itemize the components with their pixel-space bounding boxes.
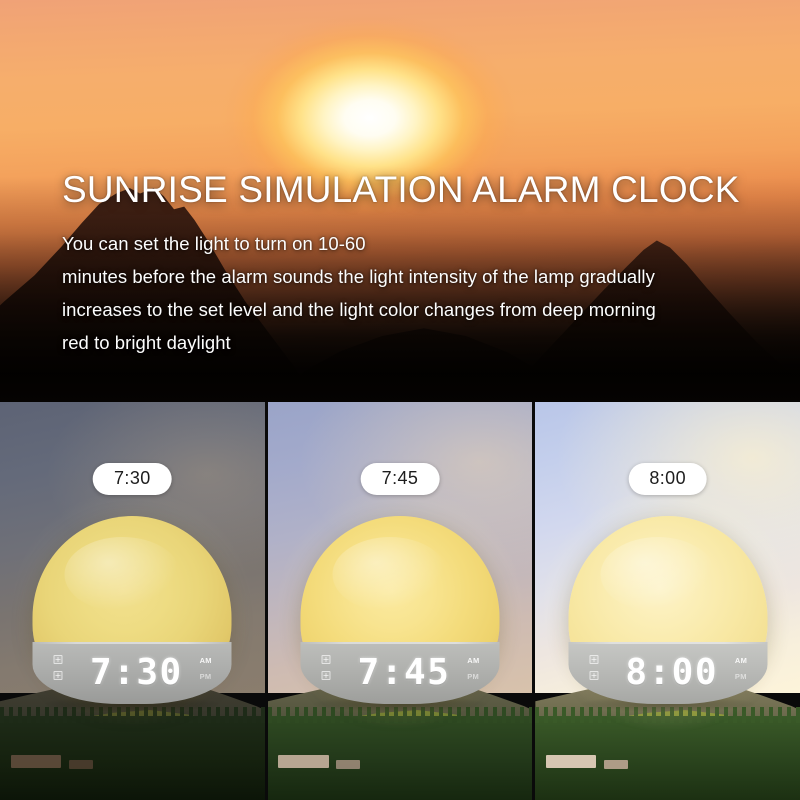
pm-label: PM <box>467 673 479 681</box>
hero-description-line: You can set the light to turn on 10-60 <box>62 228 762 261</box>
hero-description: You can set the light to turn on 10-60 m… <box>62 228 762 360</box>
clock-time: 7:30 <box>90 655 183 691</box>
lamp-highlight <box>332 537 447 612</box>
sunrise-lamp[interactable]: 7:45 AM PM <box>301 516 500 704</box>
building <box>69 760 93 769</box>
sunrise-lamp[interactable]: 7:30 AM PM <box>33 516 232 704</box>
treeline-canopy <box>535 707 800 723</box>
building <box>604 760 628 769</box>
product-panel-800: 8:00 8:00 AM <box>535 402 800 800</box>
pm-label: PM <box>735 673 747 681</box>
lamp-base: 7:45 AM PM <box>301 642 500 704</box>
hero-text-block: SUNRISE SIMULATION ALARM CLOCK You can s… <box>62 170 762 360</box>
alarm-indicator-2-icon <box>322 671 331 680</box>
time-badge: 8:00 <box>628 463 707 495</box>
panel-treeline <box>535 716 800 800</box>
lamp-base: 7:30 AM PM <box>33 642 232 704</box>
lcd-display: 8:00 AM PM <box>568 642 767 704</box>
panel-treeline <box>268 716 533 800</box>
alarm-indicator-1-icon <box>322 655 331 664</box>
time-badge: 7:30 <box>93 463 172 495</box>
am-label: AM <box>200 657 212 665</box>
building <box>11 755 61 768</box>
treeline-canopy <box>0 707 265 723</box>
page-title: SUNRISE SIMULATION ALARM CLOCK <box>62 170 762 210</box>
meridiem-group: AM PM <box>200 657 212 680</box>
lcd-display: 7:45 AM PM <box>301 642 500 704</box>
meridiem-group: AM PM <box>735 657 747 680</box>
product-panel-row: 7:30 7:30 AM <box>0 402 800 800</box>
panel-treeline <box>0 716 265 800</box>
lamp-highlight <box>65 537 180 612</box>
building <box>546 755 596 768</box>
hero-description-line: red to bright daylight <box>62 327 762 360</box>
product-marketing-image: SUNRISE SIMULATION ALARM CLOCK You can s… <box>0 0 800 800</box>
product-panel-730: 7:30 7:30 AM <box>0 402 265 800</box>
hero-description-line: increases to the set level and the light… <box>62 294 762 327</box>
building <box>336 760 360 769</box>
product-panel-745: 7:45 7:45 AM <box>268 402 533 800</box>
clock-time: 7:45 <box>358 655 451 691</box>
pm-label: PM <box>200 673 212 681</box>
lamp-highlight <box>600 537 715 612</box>
am-label: AM <box>467 657 479 665</box>
alarm-indicator-2-icon <box>54 671 63 680</box>
clock-time: 8:00 <box>625 655 718 691</box>
lamp-base: 8:00 AM PM <box>568 642 767 704</box>
treeline-canopy <box>268 707 533 723</box>
lcd-display: 7:30 AM PM <box>33 642 232 704</box>
meridiem-group: AM PM <box>467 657 479 680</box>
am-label: AM <box>735 657 747 665</box>
hero-banner: SUNRISE SIMULATION ALARM CLOCK You can s… <box>0 0 800 402</box>
alarm-indicator-2-icon <box>589 671 598 680</box>
lcd-indicator-group <box>589 655 602 680</box>
sunrise-lamp[interactable]: 8:00 AM PM <box>568 516 767 704</box>
hero-description-line: minutes before the alarm sounds the ligh… <box>62 261 762 294</box>
lcd-indicator-group <box>54 655 67 680</box>
alarm-indicator-1-icon <box>54 655 63 664</box>
alarm-indicator-1-icon <box>589 655 598 664</box>
building <box>278 755 328 768</box>
time-badge: 7:45 <box>361 463 440 495</box>
lcd-indicator-group <box>322 655 335 680</box>
